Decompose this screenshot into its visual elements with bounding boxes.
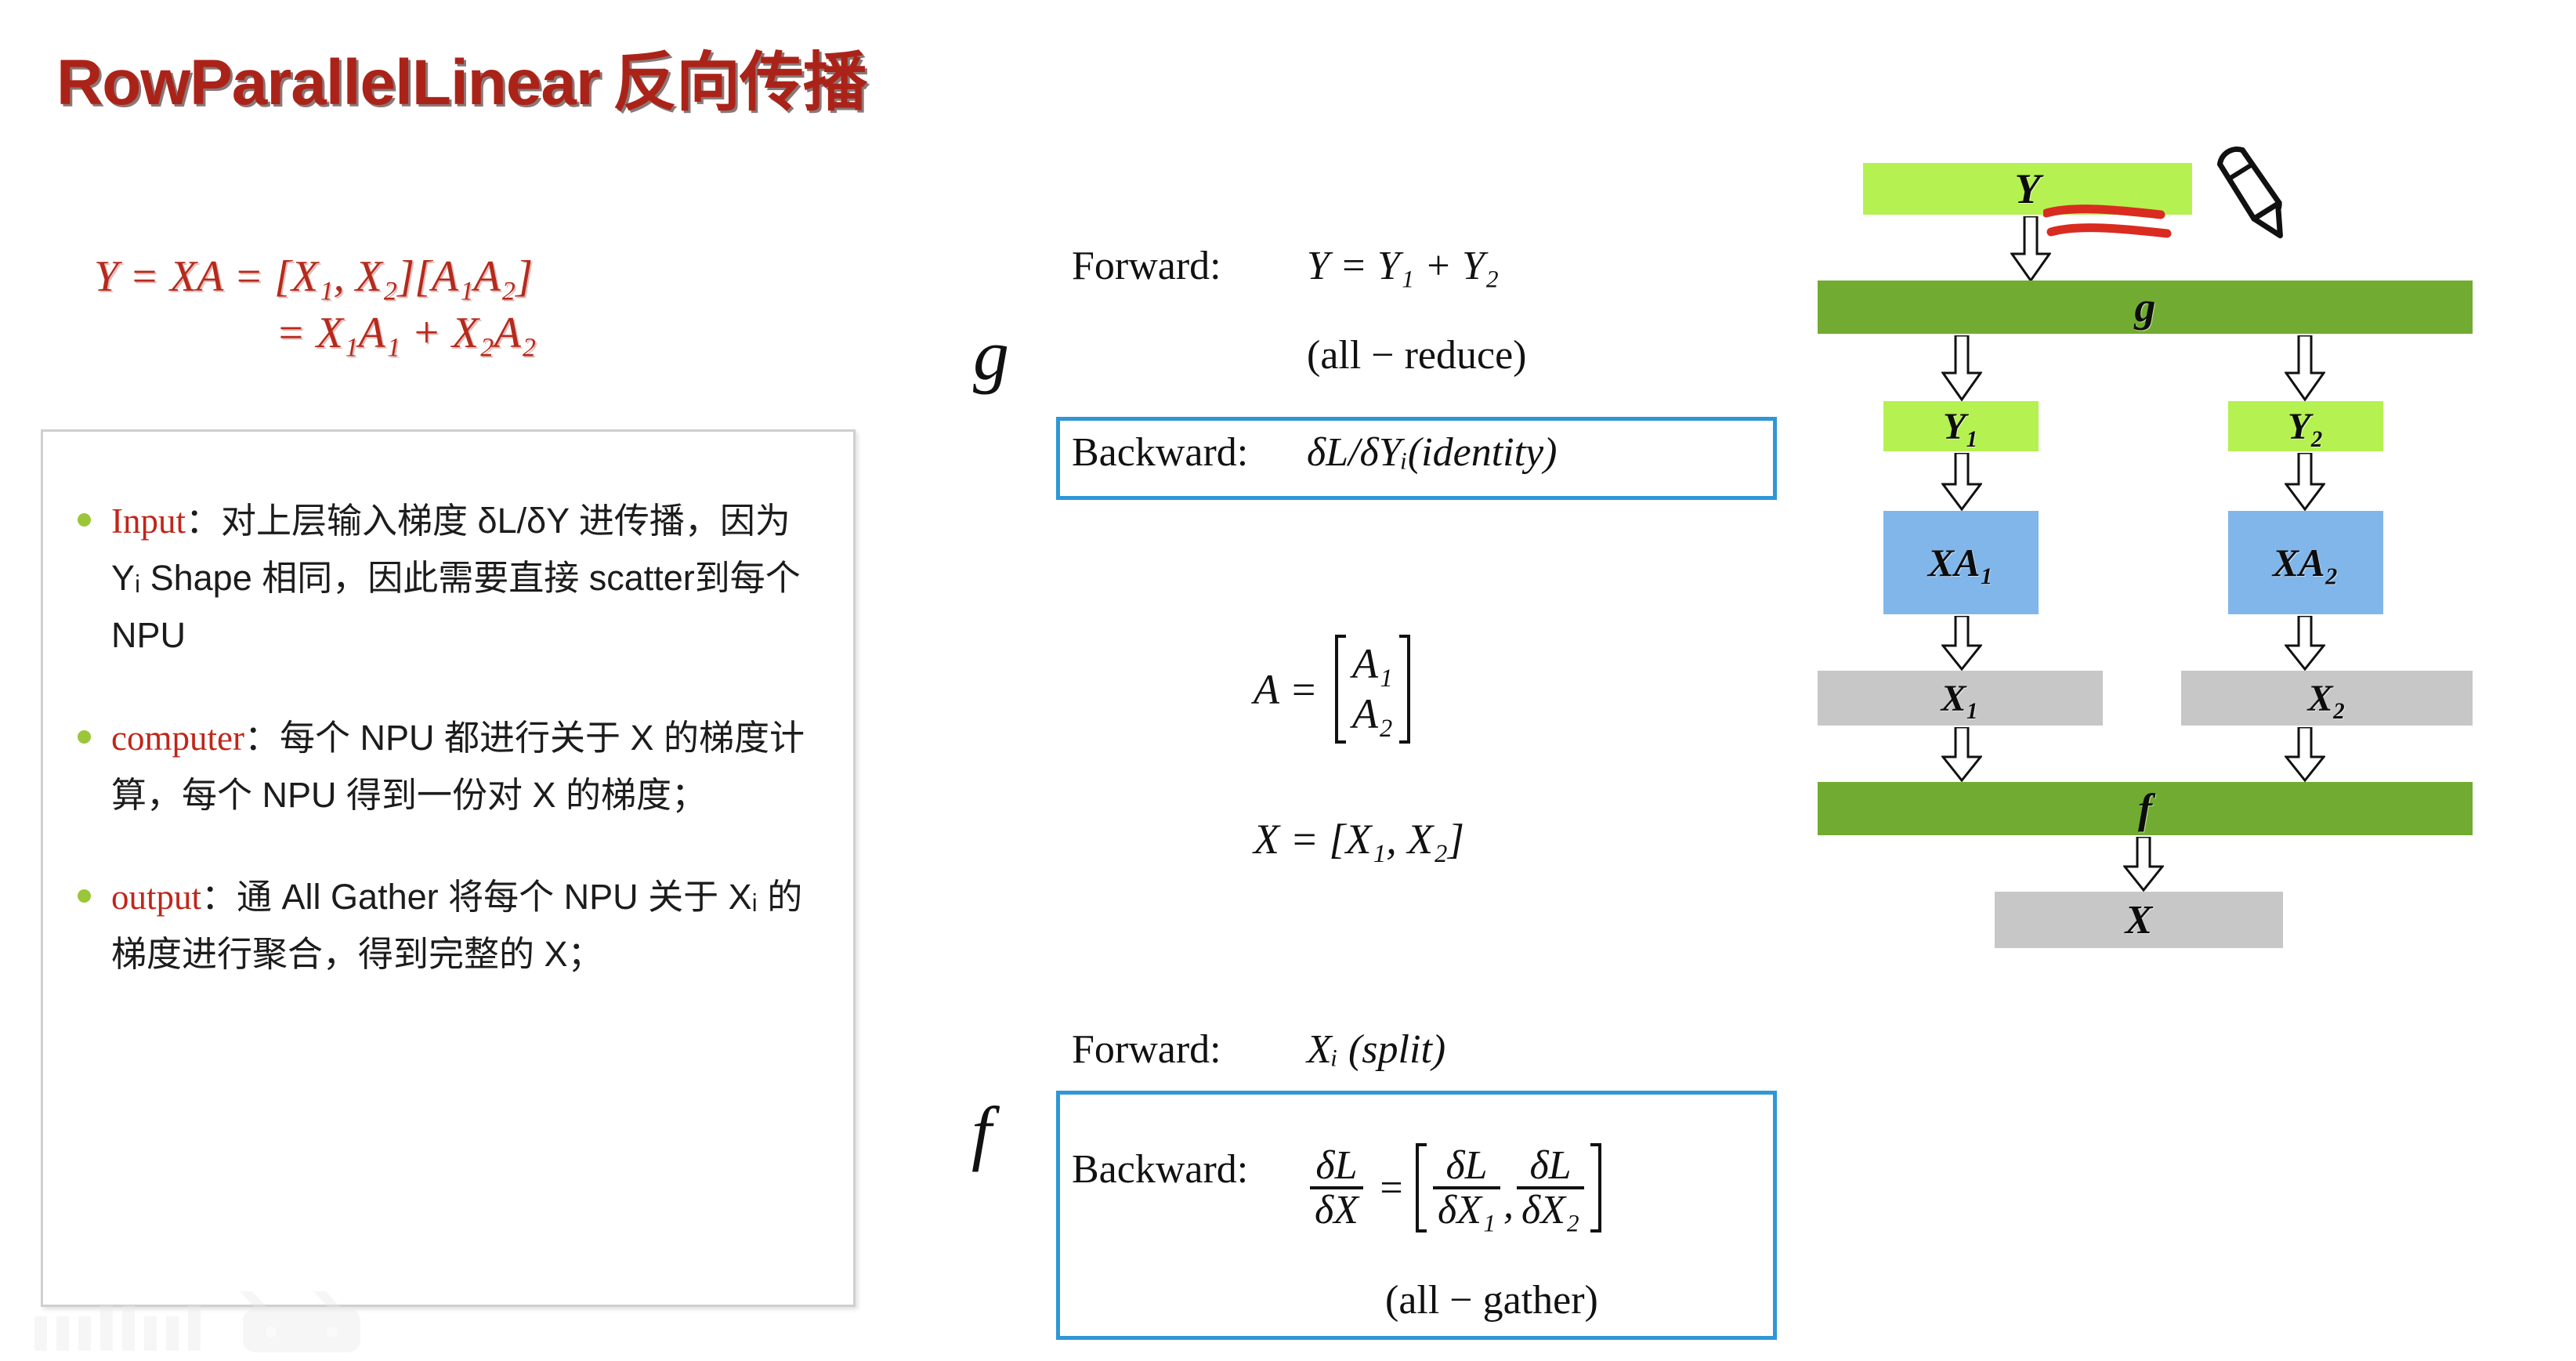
f-term1-numerator: δL	[1441, 1145, 1492, 1186]
f-lhs-numerator: δL	[1311, 1145, 1362, 1186]
pencil-cursor-icon	[2198, 141, 2308, 259]
f-comma: ,	[1503, 1182, 1514, 1231]
bullet-keyword: Input	[111, 501, 186, 541]
node-XA2: XA₂	[2228, 511, 2383, 614]
bullet-dot-icon	[78, 513, 91, 527]
f-symbol: f	[971, 1091, 992, 1174]
arrow-g-to-Y1	[1941, 335, 1982, 401]
f-forward-row: Forward:Xᵢ (split)	[1072, 1026, 1445, 1073]
node-Y1-label: Y₁	[1943, 405, 1979, 448]
bullet-separator: ：	[201, 877, 237, 917]
arrow-Y-to-g	[2010, 216, 2051, 282]
bracket-left	[1416, 1143, 1427, 1233]
bracket-left	[1335, 635, 1346, 744]
arrow-XA2-to-X2	[2285, 616, 2325, 671]
red-underline-annotation	[2043, 201, 2176, 244]
bullet-list: Input：对上层输入梯度 δL/δY 进传播，因为 Yᵢ Shape 相同，因…	[43, 432, 853, 1305]
node-g-label: g	[2135, 283, 2156, 331]
f-backward-row: Backward: δL δX = δL δX₁ , δL δX₂	[1072, 1142, 1601, 1233]
node-X: X	[1995, 892, 2283, 948]
node-X-label: X	[2126, 897, 2153, 943]
f-term1-fraction: δL δX₁	[1433, 1145, 1500, 1231]
node-Y1: Y₁	[1883, 401, 2039, 451]
bracket-right	[1590, 1143, 1601, 1233]
bullet-separator: ：	[186, 501, 221, 541]
node-XA1: XA₁	[1883, 511, 2039, 614]
f-lhs-denominator: δX	[1310, 1186, 1363, 1231]
g-forward-row: Forward:Y = Y₁ + Y₂	[1072, 243, 1499, 289]
matrix-A: A = A₁ A₂	[1254, 635, 1410, 744]
f-forward-label: Forward:	[1072, 1026, 1307, 1073]
arrow-g-to-Y2	[2285, 335, 2325, 401]
g-forward-label: Forward:	[1072, 243, 1307, 289]
f-backward-label: Backward:	[1072, 1146, 1307, 1193]
node-XA1-label: XA₁	[1928, 540, 1994, 585]
f-op-note: (all − gather)	[1385, 1277, 1598, 1323]
page-title-cn: 反向传播	[613, 47, 867, 118]
bilibili-watermark	[19, 1277, 489, 1357]
arrow-Y2-to-XA2	[2285, 453, 2325, 511]
matrix-A-row1: A₁	[1352, 639, 1393, 690]
node-Y2: Y₂	[2228, 401, 2383, 451]
node-Y2-label: Y₂	[2288, 405, 2324, 448]
bullet-dot-icon	[78, 889, 91, 903]
list-item: Input：对上层输入梯度 δL/δY 进传播，因为 Yᵢ Shape 相同，因…	[78, 493, 817, 664]
dataflow-diagram: Y g Y₁ Y₂ XA₁	[1818, 157, 2523, 1348]
node-X1-label: X₁	[1941, 677, 1980, 720]
bullet-keyword: computer	[111, 719, 244, 758]
node-X1: X₁	[1818, 671, 2103, 726]
node-Y-label: Y	[2015, 165, 2041, 213]
arrow-Y1-to-XA1	[1941, 453, 1982, 511]
g-backward-label: Backward:	[1072, 429, 1307, 476]
g-backward-row: Backward:δL/δYᵢ(identity)	[1072, 429, 1557, 476]
bullet-keyword: output	[111, 878, 201, 917]
g-backward-value: δL/δYᵢ(identity)	[1307, 430, 1557, 475]
bullet-separator: ：	[244, 718, 280, 758]
bullet-dot-icon	[78, 730, 91, 744]
node-XA2-label: XA₂	[2273, 540, 2339, 585]
node-X2-label: X₂	[2308, 677, 2346, 720]
arrow-X1-to-f	[1941, 727, 1982, 782]
node-X2: X₂	[2181, 671, 2473, 726]
f-term2-numerator: δL	[1525, 1145, 1576, 1186]
g-forward-value: Y = Y₁ + Y₂	[1307, 244, 1499, 288]
arrow-f-to-X	[2123, 837, 2164, 892]
node-f: f	[1818, 782, 2473, 835]
explanation-panel: Input：对上层输入梯度 δL/δY 进传播，因为 Yᵢ Shape 相同，因…	[41, 429, 856, 1307]
list-item: computer：每个 NPU 都进行关于 X 的梯度计算，每个 NPU 得到一…	[78, 710, 817, 824]
bullet-text: computer：每个 NPU 都进行关于 X 的梯度计算，每个 NPU 得到一…	[111, 710, 817, 824]
bullet-text: output：通 All Gather 将每个 NPU 关于 Xᵢ 的梯度进行聚…	[111, 869, 817, 983]
page-title-en: RowParallelLinear	[56, 47, 600, 118]
matrix-A-lhs: A =	[1254, 665, 1318, 714]
bullet-text: Input：对上层输入梯度 δL/δY 进传播，因为 Yᵢ Shape 相同，因…	[111, 493, 817, 664]
g-op-note: (all − reduce)	[1307, 332, 1527, 378]
node-g: g	[1818, 281, 2473, 334]
left-formula-line2: = X₁A₁ + X₂A₂	[94, 306, 783, 362]
f-lhs-fraction: δL δX	[1310, 1145, 1363, 1231]
f-term1-denominator: δX₁	[1433, 1186, 1500, 1231]
left-formula-line1: Y = XA = [X₁, X₂][A₁A₂]	[94, 252, 533, 301]
left-formula: Y = XA = [X₁, X₂][A₁A₂] = X₁A₁ + X₂A₂	[94, 249, 783, 361]
list-item: output：通 All Gather 将每个 NPU 关于 Xᵢ 的梯度进行聚…	[78, 869, 817, 983]
g-symbol: g	[973, 313, 1009, 396]
bracket-right	[1399, 635, 1410, 744]
f-equals-sign: =	[1377, 1165, 1405, 1211]
matrix-A-row2: A₂	[1352, 690, 1393, 740]
f-term2-denominator: δX₂	[1517, 1186, 1584, 1231]
f-forward-value: Xᵢ (split)	[1307, 1027, 1445, 1072]
arrow-XA1-to-X1	[1941, 616, 1982, 671]
arrow-X2-to-f	[2285, 727, 2325, 782]
f-term2-fraction: δL δX₂	[1517, 1145, 1584, 1231]
page-title: RowParallelLinear反向传播	[56, 30, 867, 123]
matrix-X: X = [X₁, X₂]	[1254, 815, 1464, 863]
node-f-label: f	[2138, 784, 2152, 833]
